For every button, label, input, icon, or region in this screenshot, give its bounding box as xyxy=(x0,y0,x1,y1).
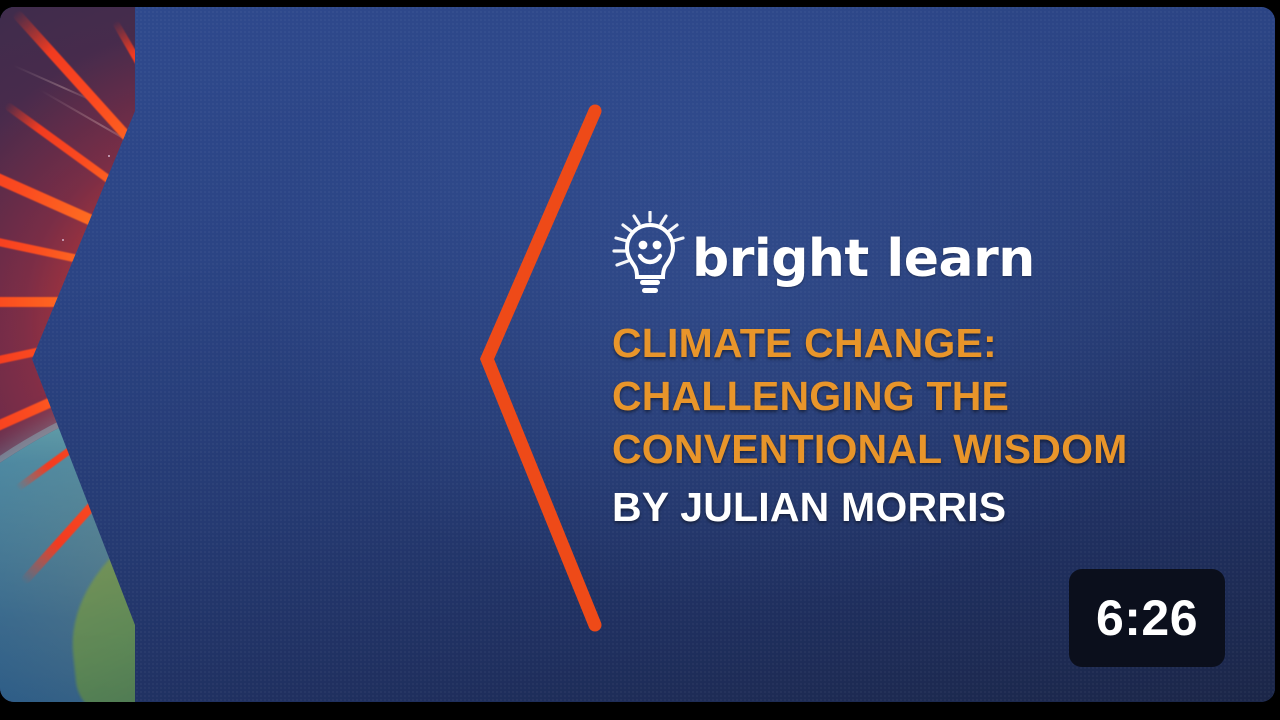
video-thumbnail[interactable]: bright learn CLIMATE CHANGE: CHALLENGING… xyxy=(0,0,1280,720)
duration-badge: 6:26 xyxy=(1069,569,1225,667)
brand-wordmark: bright learn xyxy=(692,233,1035,285)
title-block: CLIMATE CHANGE: CHALLENGING THE CONVENTI… xyxy=(612,317,1252,534)
thumbnail-canvas[interactable]: bright learn CLIMATE CHANGE: CHALLENGING… xyxy=(0,7,1275,702)
star xyxy=(62,239,64,241)
lightbulb-smiley-icon xyxy=(606,211,688,301)
title-line-3: CONVENTIONAL WISDOM xyxy=(612,423,1252,476)
author-byline: BY JULIAN MORRIS xyxy=(612,481,1252,534)
title-line-1: CLIMATE CHANGE: xyxy=(612,317,1252,370)
brand-logo: bright learn xyxy=(606,210,1035,302)
duration-text: 6:26 xyxy=(1096,593,1198,643)
title-line-2: CHALLENGING THE xyxy=(612,370,1252,423)
star xyxy=(108,155,110,157)
